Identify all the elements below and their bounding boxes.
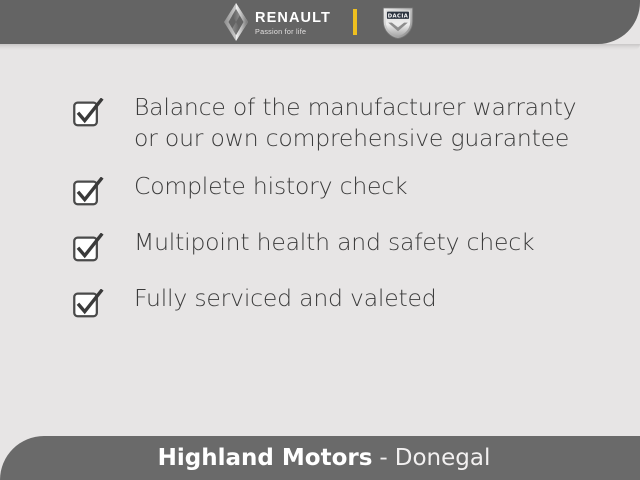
header-shadow [0, 44, 640, 50]
svg-text:DACIA: DACIA [388, 13, 409, 19]
brand-divider [353, 9, 357, 35]
list-item: Complete history check [0, 171, 640, 210]
dacia-brand-lockup: DACIA [379, 3, 417, 41]
list-item-label: Complete history check [134, 171, 407, 202]
list-item-label: Multipoint health and safety check [134, 227, 534, 258]
dealer-separator: - [379, 445, 387, 471]
dealer-name: Highland Motors [158, 445, 373, 471]
list-item: Balance of the manufacturer warranty or … [0, 92, 640, 154]
checkbox-checked-icon [72, 289, 104, 322]
renault-wordmark: RENAULT Passion for life [255, 9, 331, 35]
footer: Highland Motors - Donegal [0, 430, 640, 480]
brand-logos: RENAULT Passion for life [0, 0, 640, 44]
checkbox-checked-icon [72, 98, 104, 131]
list-item: Fully serviced and valeted [0, 283, 640, 322]
dealer-location: Donegal [395, 445, 491, 471]
checkbox-checked-icon [72, 233, 104, 266]
footer-bar: Highland Motors - Donegal [0, 436, 640, 480]
benefits-checklist: Balance of the manufacturer warranty or … [0, 92, 640, 339]
list-item-label: Fully serviced and valeted [134, 283, 437, 314]
renault-diamond-icon [223, 2, 249, 42]
list-item: Multipoint health and safety check [0, 227, 640, 266]
list-item-label: Balance of the manufacturer warranty or … [134, 92, 576, 154]
dealer-banner: Highland Motors - Donegal [150, 445, 491, 471]
header: RENAULT Passion for life [0, 0, 640, 52]
renault-name: RENAULT [255, 11, 331, 26]
renault-tagline: Passion for life [255, 28, 331, 35]
renault-brand-lockup: RENAULT Passion for life [223, 0, 331, 44]
promo-banner: RENAULT Passion for life [0, 0, 640, 480]
checkbox-checked-icon [72, 177, 104, 210]
dacia-shield-icon: DACIA [379, 3, 417, 41]
